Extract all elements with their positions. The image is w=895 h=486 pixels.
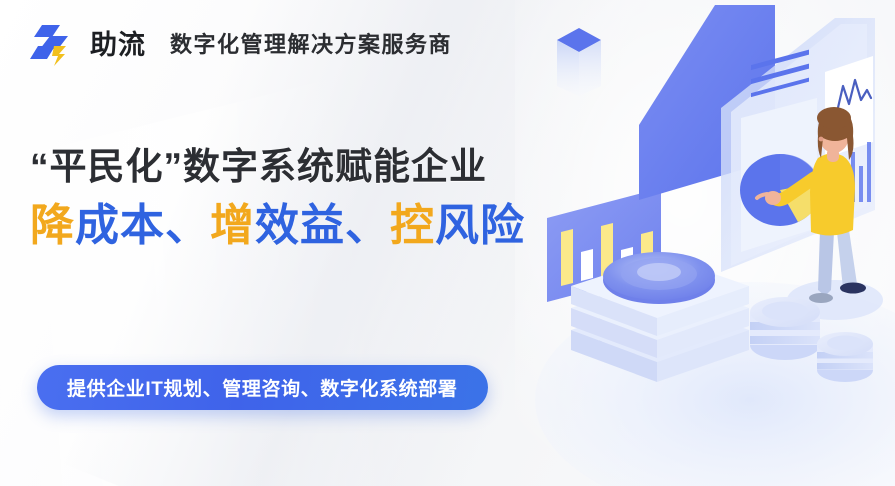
- brand-tagline: 数字化管理解决方案服务商: [170, 34, 452, 56]
- pie-chart: [740, 154, 821, 226]
- headline-primary-2: 效益、: [255, 201, 390, 250]
- headline-block: “平民化”数字系统赋能企业 降成本、增效益、控风险: [30, 148, 525, 248]
- header: 助流 数字化管理解决方案服务商: [28, 22, 452, 68]
- headline-primary-1: 成本、: [75, 201, 210, 250]
- headline-primary-3: 风险: [435, 201, 525, 250]
- sweater: [810, 153, 855, 235]
- cta-pill-button[interactable]: 提供企业IT规划、管理咨询、数字化系统部署: [37, 365, 488, 410]
- shoe-left: [809, 293, 833, 303]
- promotional-banner: 助流 数字化管理解决方案服务商 “平民化”数字系统赋能企业 降成本、增效益、控风…: [0, 0, 895, 486]
- ear: [819, 137, 824, 142]
- headline-line-1: “平民化”数字系统赋能企业: [30, 148, 525, 185]
- lightning-bolt-logo-icon: [28, 22, 74, 68]
- bar-1: [561, 229, 573, 286]
- coin-stack-large: [750, 297, 820, 360]
- headline-accent-3: 控: [390, 201, 435, 250]
- background-sheen-left: [0, 65, 520, 486]
- headline-accent-2: 增: [210, 201, 255, 250]
- server-top-disc: [603, 252, 715, 304]
- floating-cube: [557, 28, 601, 96]
- headline-line-2: 降成本、增效益、控风险: [30, 204, 525, 248]
- cta-pill-label: 提供企业IT规划、管理咨询、数字化系统部署: [67, 374, 458, 401]
- coin-stack-small: [817, 332, 873, 382]
- shoe-right: [840, 283, 866, 294]
- bar-2: [581, 249, 593, 281]
- headline-accent-1: 降: [30, 201, 75, 250]
- illustration-data-dashboard: [535, 0, 895, 486]
- brand-name: 助流: [90, 32, 146, 59]
